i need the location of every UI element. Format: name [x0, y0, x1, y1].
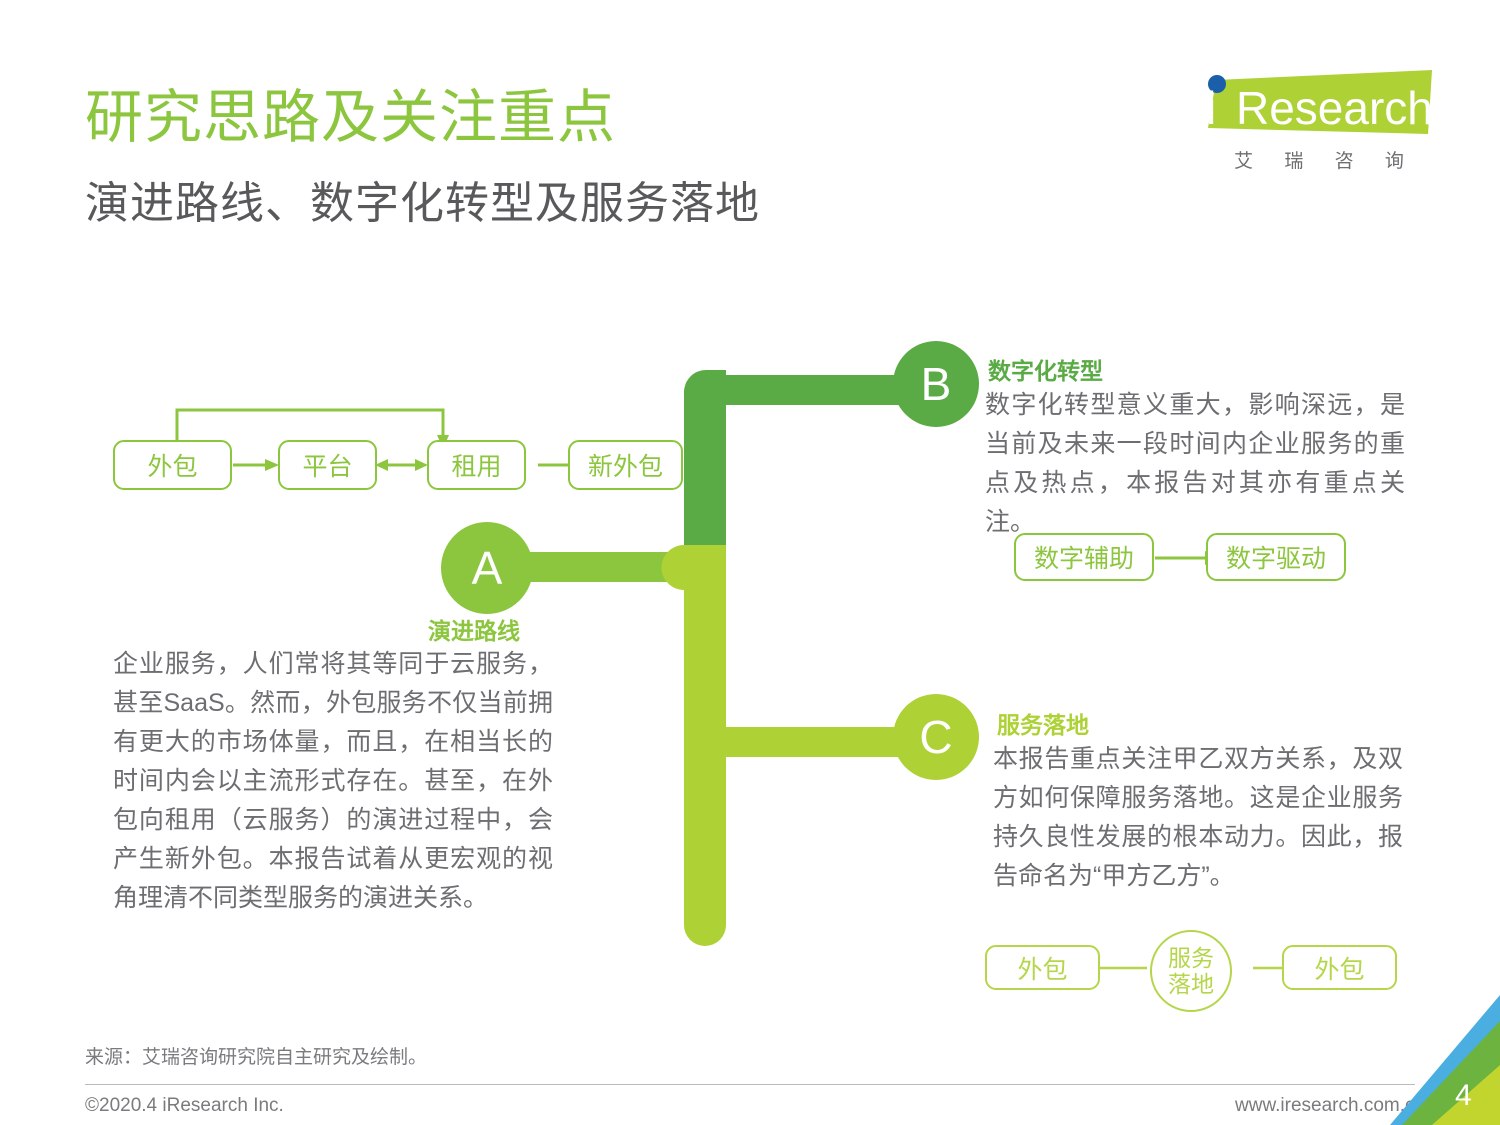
logo-brand-cn: 艾 瑞 咨 询 [1218, 146, 1433, 173]
iresearch-logo: i Research 艾 瑞 咨 询 [1196, 68, 1436, 178]
section-b-heading: 数字化转型 [988, 352, 1103, 386]
node-b[interactable]: B [893, 341, 979, 427]
source-note: 来源：艾瑞咨询研究院自主研究及绘制。 [85, 1042, 427, 1069]
landing-box-right[interactable]: 外包 [1282, 945, 1397, 990]
footer-divider [85, 1084, 1415, 1085]
landing-center-circle[interactable]: 服务 落地 [1150, 930, 1232, 1012]
landing-box-left[interactable]: 外包 [985, 945, 1100, 990]
landing-circle-line-2: 落地 [1168, 971, 1214, 997]
page-number: 4 [1455, 1079, 1472, 1113]
evolution-box-4[interactable]: 新外包 [568, 440, 683, 490]
evolution-box-2[interactable]: 平台 [278, 440, 377, 490]
section-b-body: 数字化转型意义重大，影响深远，是当前及未来一段时间内企业服务的重点及热点，本报告… [985, 386, 1405, 542]
digital-box-1[interactable]: 数字辅助 [1014, 533, 1154, 581]
digital-box-2[interactable]: 数字驱动 [1206, 533, 1346, 581]
node-c[interactable]: C [893, 694, 979, 780]
evolution-box-1[interactable]: 外包 [113, 440, 232, 490]
section-c-heading: 服务落地 [997, 706, 1089, 740]
landing-circle-line-1: 服务 [1168, 945, 1214, 971]
node-a[interactable]: A [441, 522, 533, 614]
copyright-text: ©2020.4 iResearch Inc. [85, 1095, 284, 1117]
section-a-body: 企业服务，人们常将其等同于云服务，甚至SaaS。然而，外包服务不仅当前拥有更大的… [113, 645, 553, 918]
section-c-body: 本报告重点关注甲乙双方关系，及双方如何保障服务落地。这是企业服务持久良性发展的根… [993, 740, 1403, 896]
evolution-box-3[interactable]: 租用 [427, 440, 526, 490]
section-a-heading: 演进路线 [428, 612, 520, 646]
svg-text:i: i [1206, 82, 1216, 134]
slide-root: 研究思路及关注重点 演进路线、数字化转型及服务落地 i Research 艾 瑞… [0, 0, 1500, 1125]
page-subtitle: 演进路线、数字化转型及服务落地 [85, 178, 760, 230]
page-title: 研究思路及关注重点 [85, 85, 616, 151]
svg-text:Research: Research [1236, 82, 1433, 134]
logo-mark-icon: i Research [1196, 68, 1436, 140]
corner-decoration-icon [1370, 995, 1500, 1125]
